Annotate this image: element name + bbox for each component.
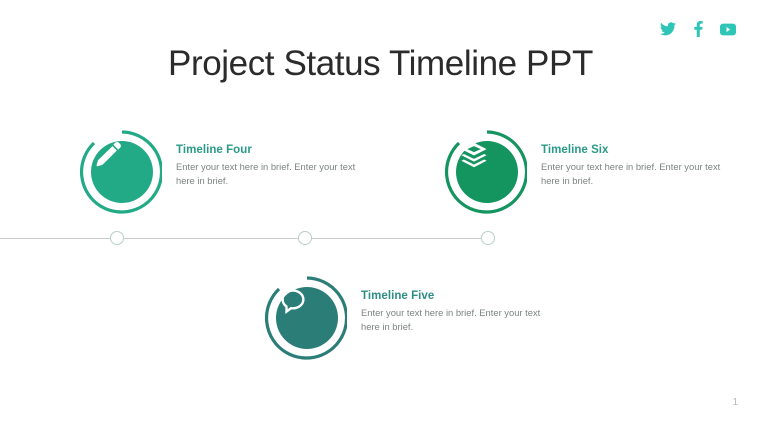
timeline-body: Enter your text here in brief. Enter you… (176, 160, 372, 188)
timeline-text-block: Timeline Four Enter your text here in br… (162, 128, 372, 188)
twitter-icon[interactable] (660, 21, 676, 37)
timeline-body: Enter your text here in brief. Enter you… (541, 160, 737, 188)
timeline-heading: Timeline Five (361, 290, 557, 302)
timeline-text-block: Timeline Five Enter your text here in br… (347, 274, 557, 334)
pencil-icon (90, 140, 154, 204)
timeline-text-block: Timeline Six Enter your text here in bri… (527, 128, 737, 188)
page-number: 1 (732, 397, 738, 408)
timeline-body: Enter your text here in brief. Enter you… (361, 306, 557, 334)
timeline-axis-line (0, 238, 490, 239)
facebook-icon[interactable] (690, 21, 706, 37)
timeline-axis-node[interactable] (298, 231, 312, 245)
timeline-badge (437, 128, 527, 220)
timeline-badge (257, 274, 347, 366)
timeline-heading: Timeline Six (541, 144, 737, 156)
timeline-item[interactable]: Timeline Five Enter your text here in br… (257, 274, 557, 366)
social-links-bar (660, 21, 736, 37)
timeline-item[interactable]: Timeline Four Enter your text here in br… (72, 128, 372, 220)
timeline-item[interactable]: Timeline Six Enter your text here in bri… (437, 128, 737, 220)
youtube-icon[interactable] (720, 21, 736, 37)
chat-bubble-icon (275, 286, 339, 350)
page-title: Project Status Timeline PPT (168, 44, 593, 84)
layers-icon (455, 140, 519, 204)
timeline-axis-node[interactable] (481, 231, 495, 245)
slide-canvas: Project Status Timeline PPT Timeline Fou… (0, 0, 768, 432)
timeline-axis-node[interactable] (110, 231, 124, 245)
timeline-badge (72, 128, 162, 220)
timeline-heading: Timeline Four (176, 144, 372, 156)
